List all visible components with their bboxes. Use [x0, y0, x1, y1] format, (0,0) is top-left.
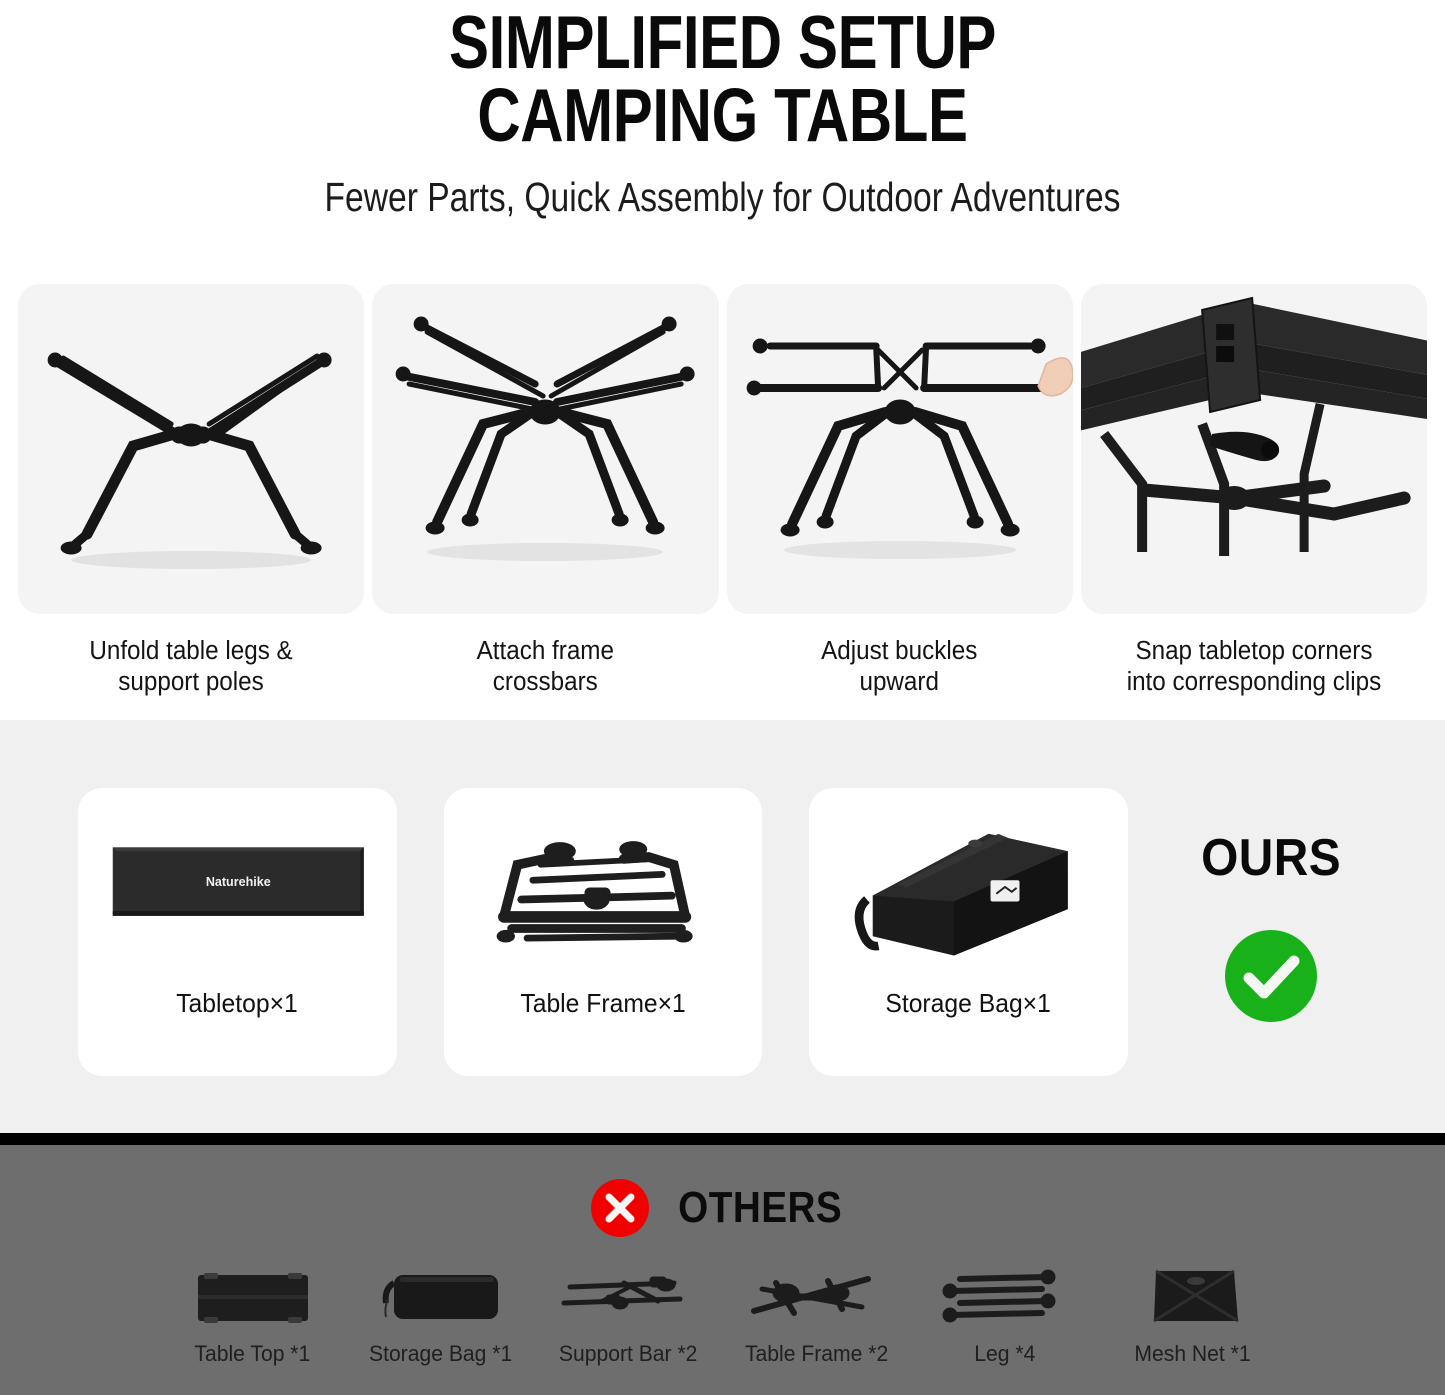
ours-part-card-frame: Table Frame×1: [444, 788, 763, 1076]
step-caption: Attach frame crossbars: [477, 636, 614, 698]
support-bars-icon: [554, 1263, 704, 1333]
page-subtitle: Fewer Parts, Quick Assembly for Outdoor …: [130, 174, 1315, 221]
check-circle-icon: [1225, 930, 1317, 1022]
ours-label: OURS: [1201, 828, 1341, 888]
step-image-card: [727, 284, 1073, 614]
part-label: Table Top *1: [195, 1341, 311, 1367]
setup-step-3: Adjust buckles upward: [723, 284, 1077, 720]
black-storage-bag-icon: [809, 788, 1128, 984]
infographic-page: SIMPLIFIED SETUP CAMPING TABLE Fewer Par…: [0, 0, 1445, 1395]
storage-bag-icon: [366, 1263, 516, 1333]
step-image-card: [372, 284, 718, 614]
step-caption: Adjust buckles upward: [822, 636, 978, 698]
others-label: OTHERS: [678, 1183, 842, 1233]
table-frame-buckles-hand-icon: [727, 284, 1073, 614]
others-header: OTHERS: [0, 1179, 1445, 1237]
part-label: Table Frame×1: [520, 988, 685, 1019]
others-part-table-frame: Table Frame *2: [742, 1263, 892, 1367]
others-parts-row: Table Top *1 Storage Bag *1: [0, 1263, 1445, 1393]
others-part-storage-bag: Storage Bag *1: [366, 1263, 516, 1367]
part-label: Table Frame *2: [745, 1341, 888, 1367]
ours-section: Naturehike Tabletop×1: [0, 720, 1445, 1133]
ours-parts-row: Naturehike Tabletop×1: [78, 788, 1368, 1076]
step-image-card: [1081, 284, 1427, 614]
step-caption: Snap tabletop corners into corresponding…: [1127, 636, 1382, 698]
part-label: Tabletop×1: [177, 988, 299, 1019]
part-label: Mesh Net *1: [1134, 1341, 1250, 1367]
setup-steps-row: Unfold table legs & support poles: [0, 252, 1445, 720]
setup-step-4: Snap tabletop corners into corresponding…: [1077, 284, 1431, 720]
step-image-card: [18, 284, 364, 614]
setup-step-1: Unfold table legs & support poles: [14, 284, 368, 720]
step-caption: Unfold table legs & support poles: [89, 636, 292, 698]
table-top-panel-icon: [178, 1263, 328, 1333]
others-section: OTHERS Table Top *1: [0, 1145, 1445, 1395]
brand-label: Naturehike: [206, 875, 271, 889]
table-frame-legs-unfolded-icon: [18, 284, 364, 614]
mesh-net-icon: [1118, 1263, 1268, 1333]
others-part-leg: Leg *4: [930, 1263, 1080, 1367]
folded-table-frame-icon: [444, 788, 763, 984]
setup-step-2: Attach frame crossbars: [368, 284, 722, 720]
section-divider: [0, 1133, 1445, 1145]
folded-tabletop-panel-icon: Naturehike: [78, 788, 397, 984]
ours-badge: OURS: [1175, 788, 1368, 1076]
header: SIMPLIFIED SETUP CAMPING TABLE Fewer Par…: [0, 0, 1445, 252]
part-label: Support Bar *2: [559, 1341, 698, 1367]
legs-icon: [930, 1263, 1080, 1333]
ours-part-card-bag: Storage Bag×1: [809, 788, 1128, 1076]
others-part-mesh-net: Mesh Net *1: [1118, 1263, 1268, 1367]
others-part-table-top: Table Top *1: [178, 1263, 328, 1367]
page-title: SIMPLIFIED SETUP CAMPING TABLE: [145, 0, 1301, 152]
table-frame-crossbars-attached-icon: [372, 284, 718, 614]
part-label: Storage Bag *1: [369, 1341, 512, 1367]
part-label: Leg *4: [974, 1341, 1035, 1367]
table-frames-icon: [742, 1263, 892, 1333]
part-label: Storage Bag×1: [886, 988, 1051, 1019]
tabletop-snapped-on-frame-icon: [1081, 284, 1427, 614]
x-circle-icon: [591, 1179, 649, 1237]
ours-part-card-tabletop: Naturehike Tabletop×1: [78, 788, 397, 1076]
others-part-support-bar: Support Bar *2: [554, 1263, 704, 1367]
